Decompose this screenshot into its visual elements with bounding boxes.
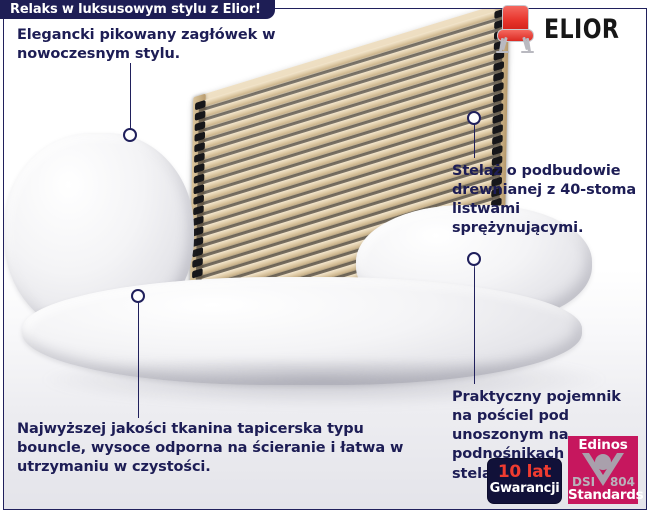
- brand-name: ELIOR: [544, 14, 619, 45]
- warranty-label: Gwarancji: [490, 481, 560, 497]
- red-chair-icon: [493, 4, 537, 54]
- callout-dot-fabric[interactable]: [131, 289, 145, 303]
- callout-dot-storage[interactable]: [467, 252, 481, 266]
- caption-fabric: Najwyższej jakości tkanina tapicerska ty…: [17, 420, 409, 477]
- badge-group: 10 lat Gwarancji Edinos DSI 804 Standard…: [487, 436, 638, 504]
- warranty-badge: 10 lat Gwarancji: [487, 458, 562, 504]
- edinos-label: Standards: [568, 487, 638, 503]
- leader-line-headboard: [130, 63, 131, 129]
- leader-line-storage: [474, 264, 475, 384]
- edinos-badge: Edinos DSI 804 Standards: [568, 436, 638, 504]
- callout-dot-headboard[interactable]: [123, 128, 137, 142]
- caption-headboard: Elegancki pikowany zagłówek w nowoczesny…: [17, 26, 277, 64]
- callout-dot-slats[interactable]: [467, 111, 481, 125]
- caption-slats: Stelaż o podbudowie drewnianej z 40-stom…: [452, 162, 648, 239]
- product-infographic: Elegancki pikowany zagłówek w nowoczesny…: [0, 0, 650, 514]
- header-banner: Relaks w luksusowym stylu z Elior!: [0, 0, 275, 19]
- header-banner-text: Relaks w luksusowym stylu z Elior!: [10, 2, 261, 17]
- warranty-years: 10 lat: [498, 464, 551, 481]
- edinos-brand: Edinos: [578, 437, 627, 453]
- brand-logo: ELIOR: [493, 4, 636, 54]
- leader-line-slats: [474, 122, 475, 158]
- leader-line-fabric: [138, 300, 139, 418]
